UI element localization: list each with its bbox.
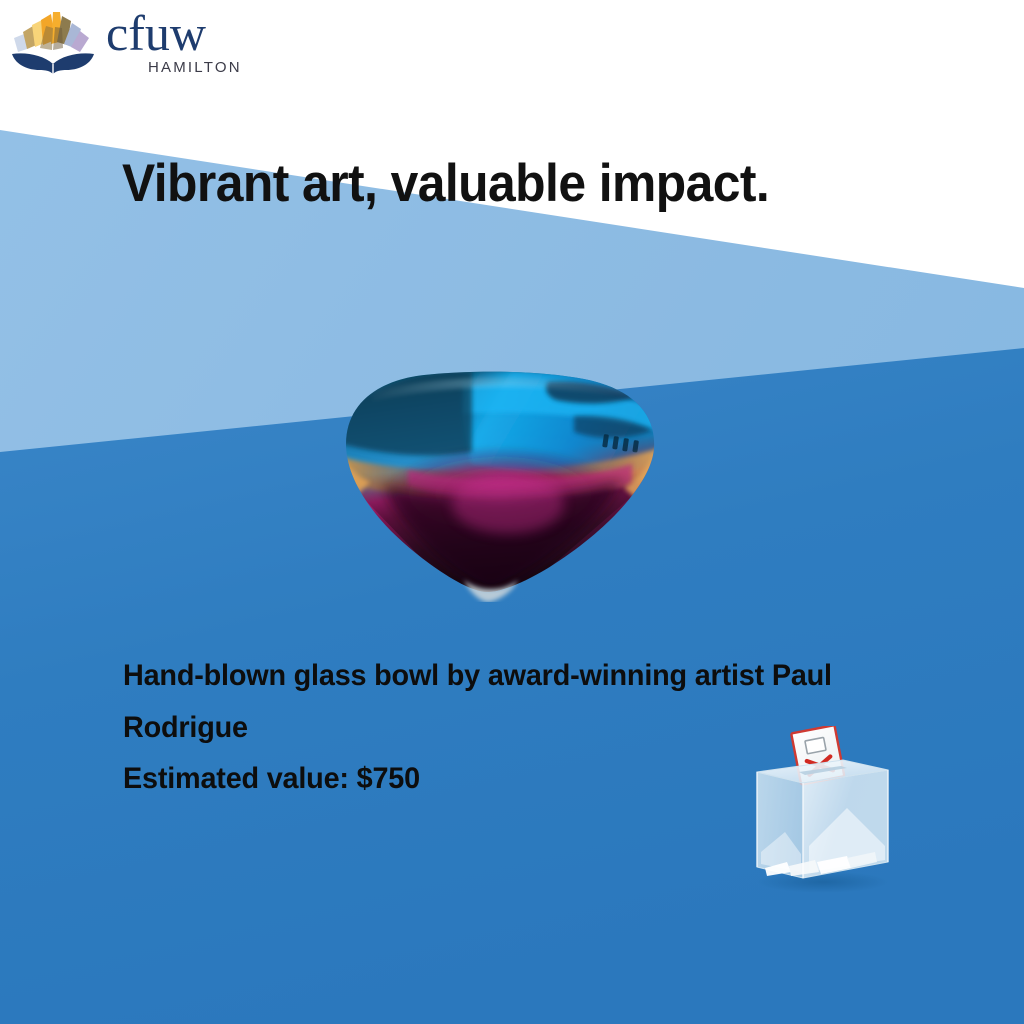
cfuw-hamilton-logo[interactable]: cfuw HAMILTON [10,8,242,80]
glass-bowl-artwork [312,352,688,602]
glass-bowl-body [336,370,664,602]
headline-text: Vibrant art, valuable impact. [122,156,902,212]
caption-line-3: Estimated value: $750 [123,753,968,805]
poster-header: cfuw HAMILTON [0,0,1024,110]
caption-line-1: Hand-blown glass bowl by award-winning a… [123,650,968,702]
promo-poster: cfuw HAMILTON Vibrant art, valuable impa… [0,0,1024,1024]
caption-line-2: Rodrigue [123,702,968,754]
item-caption: Hand-blown glass bowl by award-winning a… [123,650,968,805]
logo-chapter-name: HAMILTON [148,59,242,76]
cfuw-open-book-logo-icon [10,8,96,80]
logo-book [12,53,94,74]
logo-wordmark: cfuw [106,10,206,58]
logo-wordmark-group: cfuw HAMILTON [106,10,242,76]
